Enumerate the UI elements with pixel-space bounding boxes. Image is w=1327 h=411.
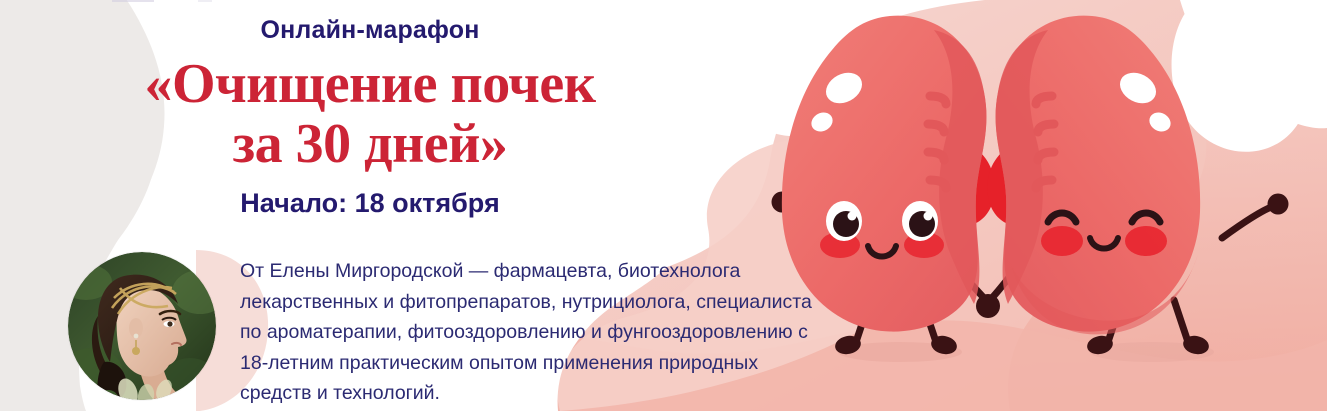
kidney-characters-illustration xyxy=(760,0,1327,411)
page-title-line-2: за 30 дней» xyxy=(0,114,740,174)
eyebrow-label: Онлайн-марафон xyxy=(0,16,740,45)
avatar-portrait-image xyxy=(68,252,216,400)
author-bio-text: От Елены Миргородской — фармацевта, биот… xyxy=(240,256,830,409)
right-kidney-blush-2 xyxy=(1125,226,1167,256)
avatar xyxy=(68,252,216,400)
page-title-line-1: «Очищение почек xyxy=(0,54,740,114)
shared-hands xyxy=(976,294,1000,318)
promo-banner: Онлайн-марафон «Очищение почек за 30 дне… xyxy=(0,0,1327,411)
right-kidney-outer-arm xyxy=(1222,206,1274,238)
right-kidney-outer-hand xyxy=(1268,194,1289,215)
kidney-character-right xyxy=(987,16,1288,357)
start-date-label: Начало: 18 октября xyxy=(0,188,740,219)
right-kidney-leg-2 xyxy=(1174,300,1188,342)
right-kidney-blush-1 xyxy=(1041,226,1083,256)
page-title: «Очищение почек за 30 дней» xyxy=(0,54,740,174)
